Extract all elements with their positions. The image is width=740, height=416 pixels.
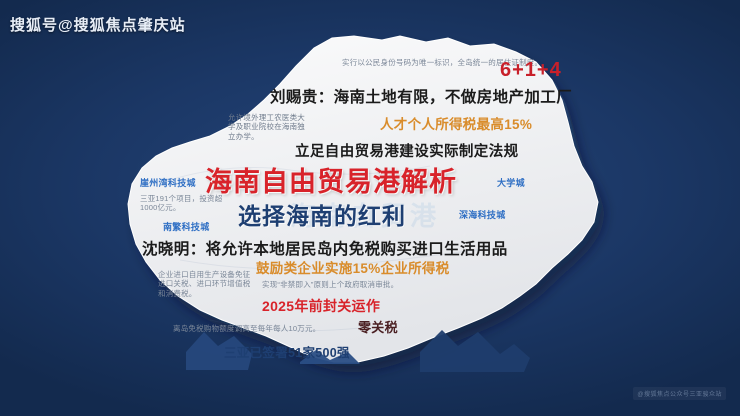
equipment-tax-note: 企业进口自用生产设备免征进口关税、进口环节增值税和消费税。 xyxy=(158,270,254,298)
infographic-text-overlay: 实行以公民身份号码为唯一标识，全岛统一的居住证制度。 6+1+4 刘赐贵：海南土… xyxy=(0,0,740,416)
tag-nanfan: 南繁科技城 xyxy=(163,222,210,233)
sanya-projects-note: 三亚191个项目，投资超1000亿元。 xyxy=(140,194,226,213)
education-note: 允许境外理工农医类大学及职业院校在海南独立办学。 xyxy=(228,113,306,141)
tag-university: 大学城 xyxy=(497,178,525,189)
corporate-tax-label: 鼓励类企业实施15%企业所得税 xyxy=(256,261,450,278)
zero-tariff-label: 零关税 xyxy=(358,320,398,336)
page-subtitle: 选择海南的红利 xyxy=(238,202,406,231)
source-watermark-bottom: @搜狐焦点公众号三亚骏众站 xyxy=(633,387,726,400)
tag-deepsea: 深海科技城 xyxy=(459,210,506,221)
page-title: 海南自由贸易港解析 xyxy=(205,166,457,200)
shen-xiaoming-quote: 沈晓明：将允许本地居民岛内免税购买进口生活用品 xyxy=(142,240,508,259)
talent-tax-label: 人才个人所得税最高15% xyxy=(380,117,532,134)
duty-free-note: 离岛免税购物额度调高至每年每人10万元。 xyxy=(173,324,320,333)
approval-note: 实现“非禁即入”原则上个政府取消审批。 xyxy=(262,280,398,289)
sanya-500-label: 三亚已签署51家500强 xyxy=(224,346,350,362)
six-one-four-label: 6+1+4 xyxy=(500,58,562,83)
tag-yazhouwan: 崖州湾科技城 xyxy=(140,178,196,189)
liu-xigui-quote: 刘赐贵：海南土地有限，不做房地产加工厂 xyxy=(270,88,572,107)
source-watermark-top: 搜狐号@搜狐焦点肇庆站 xyxy=(10,14,186,35)
regulation-line: 立足自由贸易港建设实际制定法规 xyxy=(295,143,519,161)
closing-2025-label: 2025年前封关运作 xyxy=(262,298,380,316)
